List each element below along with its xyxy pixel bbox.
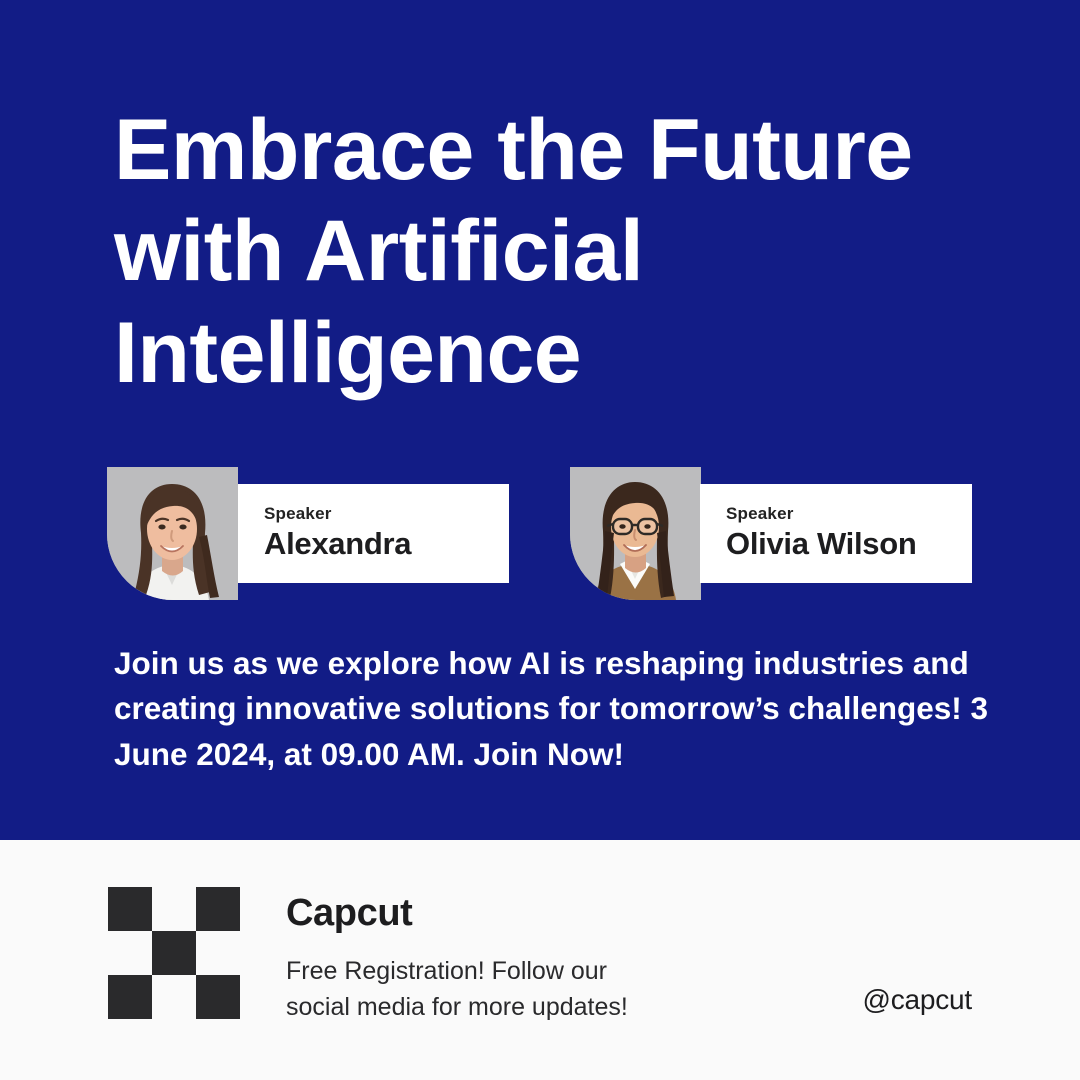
speaker-name-panel-olivia-wilson: Speaker Olivia Wilson (700, 484, 972, 583)
brand-block: Capcut Free Registration! Follow our soc… (286, 893, 716, 1025)
logo-cell-6 (196, 931, 240, 975)
logo-cell-9 (196, 975, 240, 1019)
speaker-name: Olivia Wilson (726, 527, 972, 562)
speaker-list: Speaker Alexandra (0, 467, 1080, 607)
event-poster: Embrace the Future with Artificial Intel… (0, 0, 1080, 1080)
social-handle[interactable]: @capcut (862, 984, 972, 1016)
speaker-name-panel-alexandra: Speaker Alexandra (238, 484, 509, 583)
logo-cell-1 (108, 887, 152, 931)
logo-cell-8 (152, 975, 196, 1019)
event-description: Join us as we explore how AI is reshapin… (114, 641, 994, 777)
logo-cell-4 (108, 931, 152, 975)
speaker-name: Alexandra (264, 527, 509, 562)
logo-cell-2 (152, 887, 196, 931)
logo-cell-7 (108, 975, 152, 1019)
page-title: Embrace the Future with Artificial Intel… (114, 100, 1014, 404)
speaker-photo-alexandra (107, 467, 238, 600)
speaker-role-label: Speaker (264, 505, 509, 524)
logo-cell-3 (196, 887, 240, 931)
logo-cell-5 (152, 931, 196, 975)
brand-name: Capcut (286, 893, 716, 935)
speaker-photo-olivia-wilson (570, 467, 701, 600)
speaker-role-label: Speaker (726, 505, 972, 524)
brand-tagline: Free Registration! Follow our social med… (286, 953, 716, 1026)
checkerboard-x-logo-icon (108, 887, 240, 1019)
